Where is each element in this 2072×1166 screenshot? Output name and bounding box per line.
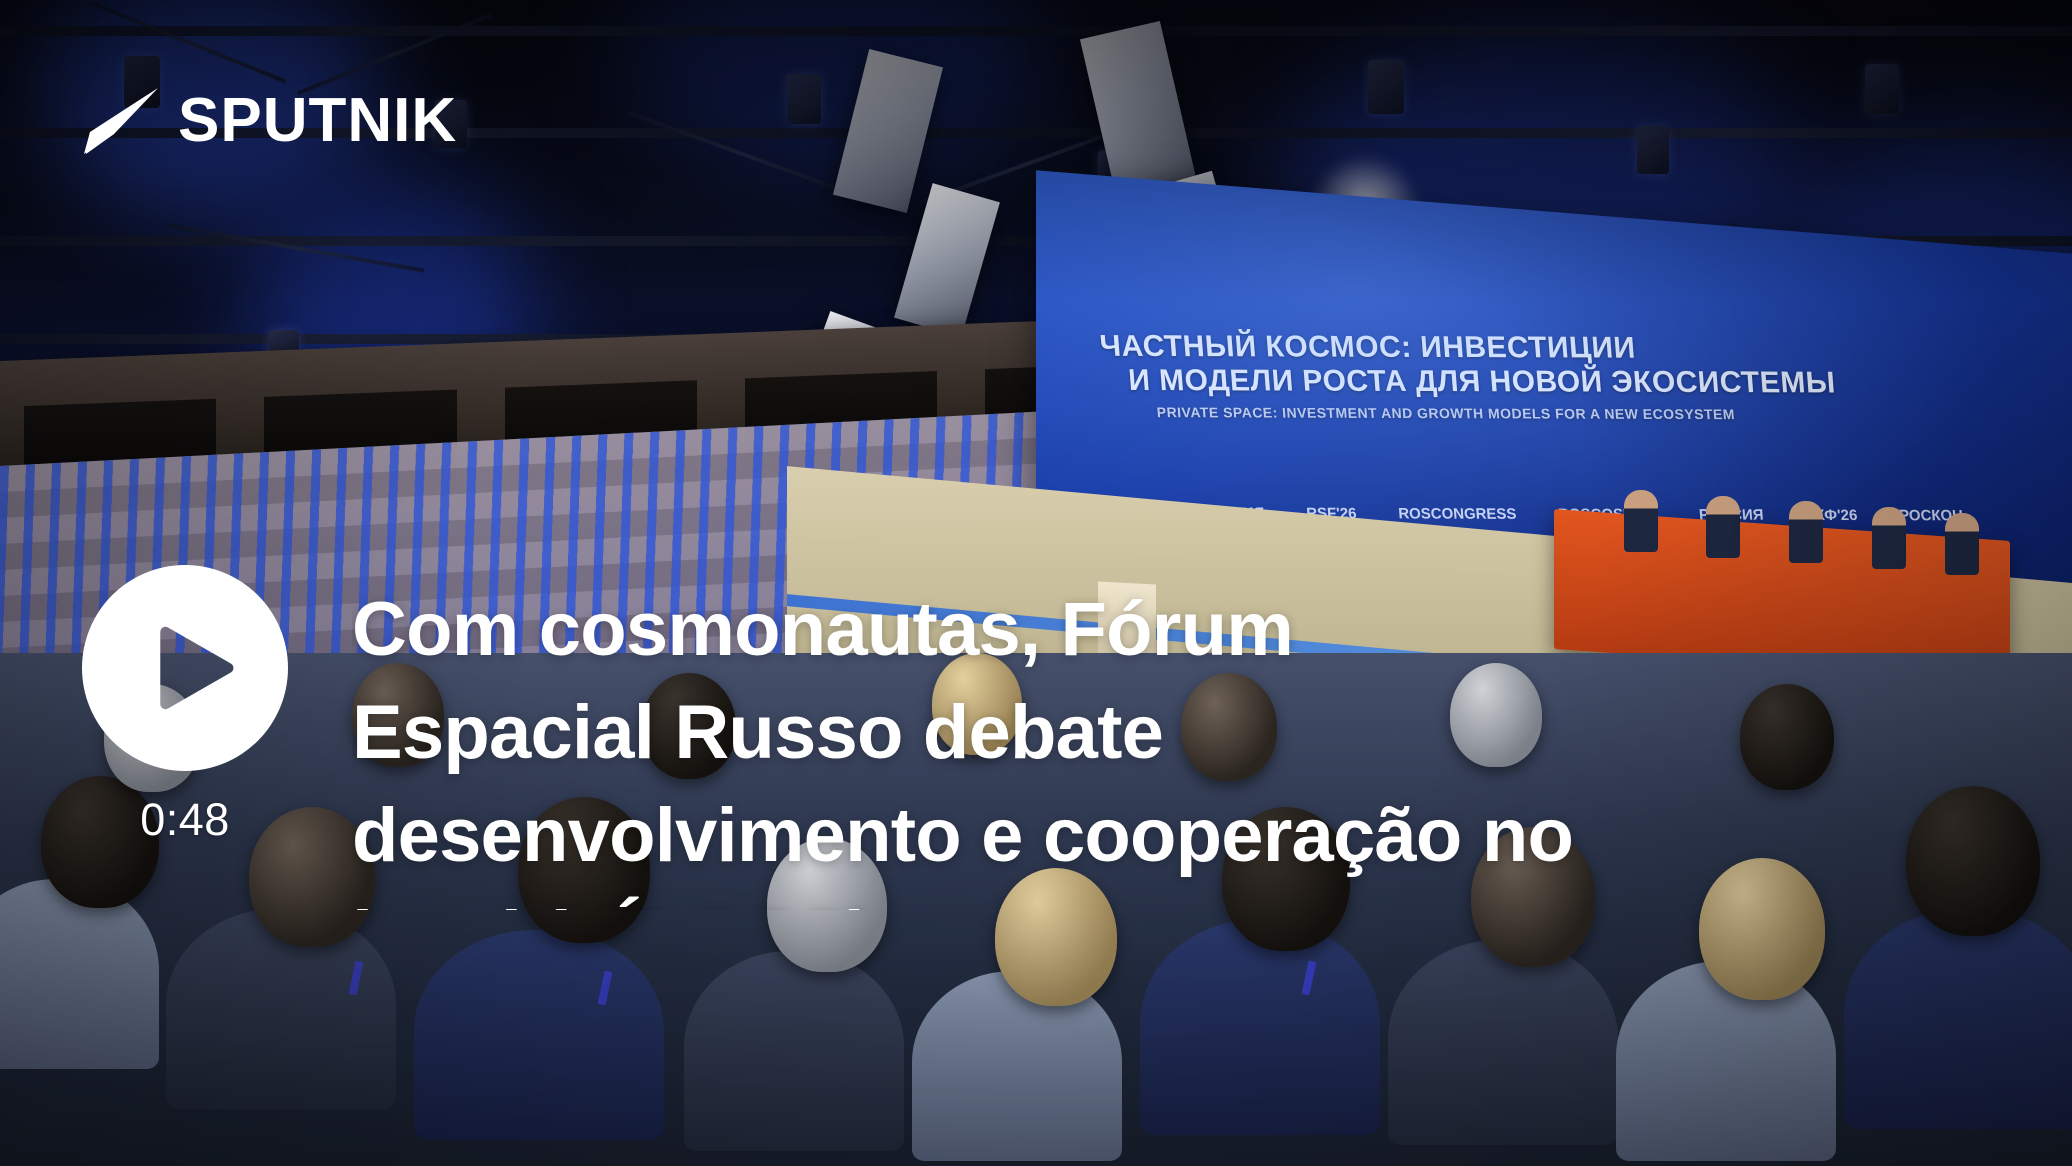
- headline-line-4: local (VÍDEOS): [352, 887, 2072, 910]
- audience-shoulder: [414, 930, 664, 1140]
- audience-shoulder: [912, 971, 1122, 1161]
- audience-shoulder: [1616, 961, 1836, 1161]
- video-duration: 0:48: [140, 797, 230, 842]
- led-title-line-2: И МОДЕЛИ РОСТА ДЛЯ НОВОЙ ЭКОСИСТЕМЫ: [1127, 363, 1837, 400]
- sputnik-wordmark: SPUTNIK: [178, 90, 457, 152]
- sputnik-arrow-icon: [84, 88, 158, 154]
- panelist: [1706, 496, 1740, 558]
- panelist: [1624, 490, 1658, 552]
- headline-line-2: Espacial Russo debate: [352, 681, 2072, 784]
- sponsor-logo: ROSCONGRESS: [1397, 505, 1516, 522]
- play-icon[interactable]: [82, 565, 288, 771]
- stage-lamp-7: [1865, 64, 1899, 114]
- audience-shoulder: [684, 951, 904, 1151]
- sputnik-logo[interactable]: SPUTNIK: [84, 88, 457, 154]
- audience-shoulder: [1140, 920, 1380, 1135]
- panelist: [1872, 507, 1906, 569]
- audience-shoulder: [0, 879, 159, 1069]
- panelist: [1945, 513, 1979, 575]
- led-title-line-1: ЧАСТНЫЙ КОСМОС: ИНВЕСТИЦИИ: [1098, 329, 1834, 366]
- headline-line-3: desenvolvimento e cooperação no: [352, 784, 2072, 887]
- headline-line-1: Com cosmonautas, Fórum: [352, 578, 2072, 681]
- video-controls: 0:48: [82, 565, 288, 842]
- panelist: [1789, 501, 1823, 563]
- led-screen-title: ЧАСТНЫЙ КОСМОС: ИНВЕСТИЦИИ И МОДЕЛИ РОСТ…: [1098, 329, 1838, 422]
- truss-beam-1: [0, 26, 2072, 36]
- audience-shoulder: [1844, 909, 2072, 1129]
- video-preview-card[interactable]: ЧАСТНЫЙ КОСМОС: ИНВЕСТИЦИИ И МОДЕЛИ РОСТ…: [0, 0, 2072, 1166]
- stage-lamp-5: [1368, 60, 1404, 114]
- stage-lamp-6: [1637, 126, 1669, 174]
- led-title-line-3: PRIVATE SPACE: INVESTMENT AND GROWTH MOD…: [1156, 404, 1838, 422]
- video-headline[interactable]: Com cosmonautas, Fórum Espacial Russo de…: [352, 578, 2072, 910]
- audience-shoulder: [1388, 940, 1618, 1145]
- stage-lamp-3: [787, 74, 821, 124]
